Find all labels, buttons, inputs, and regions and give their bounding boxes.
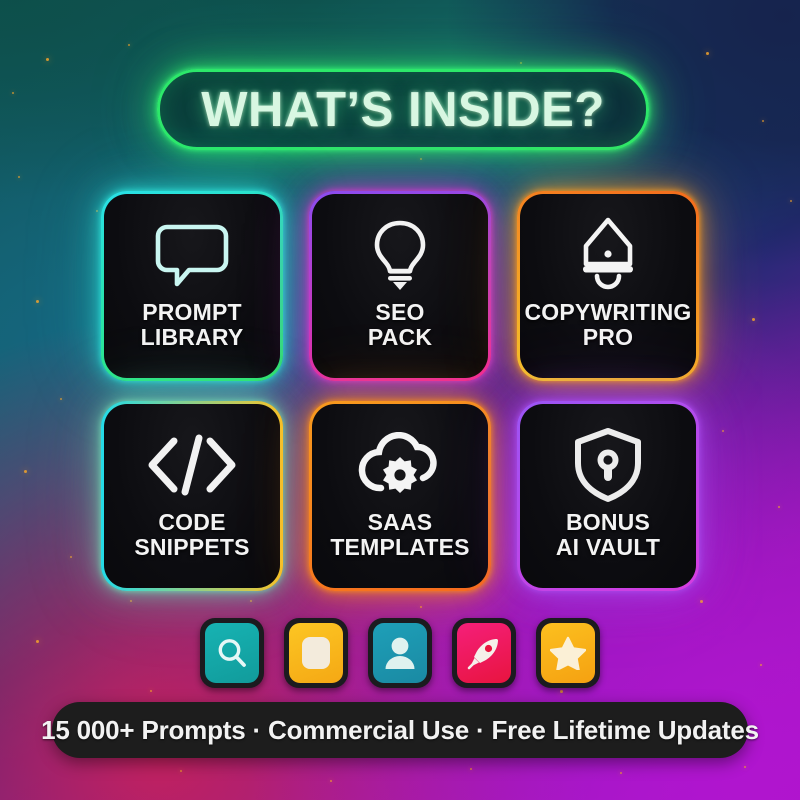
star-icon	[541, 623, 595, 683]
mini-tile-app-square[interactable]	[284, 618, 348, 688]
mini-tile-person[interactable]	[368, 618, 432, 688]
rocket-icon	[457, 623, 511, 683]
card-inner: PROMPT LIBRARY	[104, 194, 280, 378]
mini-icon-row	[200, 615, 600, 691]
pen-nib-icon	[579, 216, 637, 294]
page-title: WHAT’S INSIDE?	[201, 82, 605, 138]
card-label: PROMPT LIBRARY	[141, 300, 244, 350]
feature-card-seo-pack[interactable]: SEO PACK	[309, 191, 491, 381]
card-label: BONUS AI VAULT	[556, 510, 660, 560]
speech-bubble-icon	[155, 216, 229, 294]
mini-tile-star[interactable]	[536, 618, 600, 688]
card-inner: COPYWRITING PRO	[520, 194, 696, 378]
promo-poster: WHAT’S INSIDE? PROMPT LIBRARY	[0, 0, 800, 800]
card-inner: SEO PACK	[312, 194, 488, 378]
card-label: SAAS TEMPLATES	[330, 510, 469, 560]
app-square-icon	[289, 623, 343, 683]
features-banner: 15 000+ Prompts · Commercial Use · Free …	[52, 702, 748, 758]
cloud-gear-icon	[357, 426, 443, 504]
banner-text: 15 000+ Prompts · Commercial Use · Free …	[41, 715, 759, 746]
card-label: SEO PACK	[368, 300, 432, 350]
poster-stage: WHAT’S INSIDE? PROMPT LIBRARY	[0, 0, 800, 800]
person-icon	[373, 623, 427, 683]
title-pill: WHAT’S INSIDE?	[157, 69, 649, 150]
lightbulb-icon	[370, 216, 430, 294]
feature-card-prompt-library[interactable]: PROMPT LIBRARY	[101, 191, 283, 381]
code-brackets-icon	[144, 426, 240, 504]
feature-card-copywriting-pro[interactable]: COPYWRITING PRO	[517, 191, 699, 381]
card-inner: CODE SNIPPETS	[104, 404, 280, 588]
card-label: COPYWRITING PRO	[524, 300, 691, 350]
card-inner: BONUS AI VAULT	[520, 404, 696, 588]
card-label: CODE SNIPPETS	[134, 510, 249, 560]
feature-card-code-snippets[interactable]: CODE SNIPPETS	[101, 401, 283, 591]
mini-tile-rocket[interactable]	[452, 618, 516, 688]
shield-keyhole-icon	[573, 426, 643, 504]
mini-tile-search[interactable]	[200, 618, 264, 688]
feature-card-saas-templates[interactable]: SAAS TEMPLATES	[309, 401, 491, 591]
search-icon	[205, 623, 259, 683]
feature-card-bonus-ai-vault[interactable]: BONUS AI VAULT	[517, 401, 699, 591]
card-inner: SAAS TEMPLATES	[312, 404, 488, 588]
